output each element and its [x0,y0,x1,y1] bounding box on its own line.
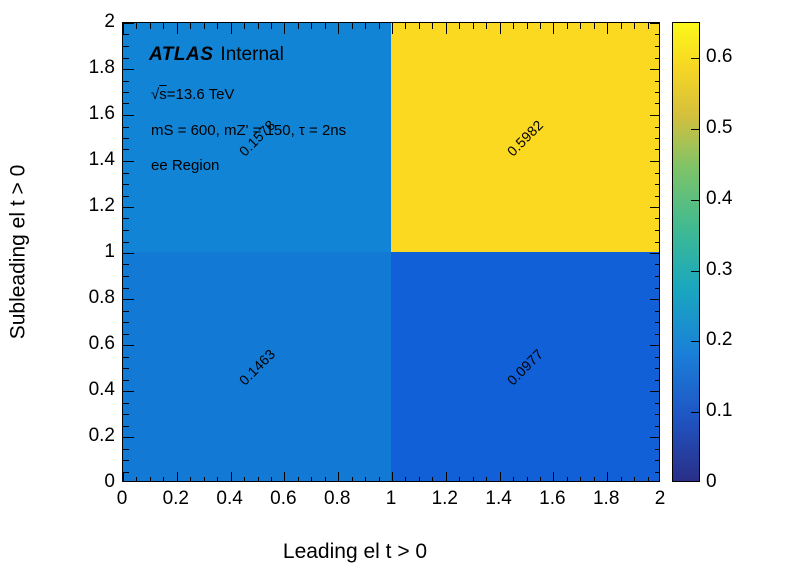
x-axis-label: 1.4 [485,488,511,510]
x-axis-tick [271,477,272,482]
y-axis-tick [123,81,129,82]
x-axis-tick [392,472,393,482]
y-axis-tick [123,334,129,335]
y-axis-tick [655,449,660,450]
model-text: mS = 600, mZ' = 150, τ = 2ns [151,122,346,139]
atlas-label: ATLASInternal [149,45,284,64]
y-axis-tick [123,242,129,243]
x-axis-label: 1.8 [593,488,619,510]
x-axis-label: 1.2 [432,488,458,510]
y-axis-tick [655,46,660,47]
color-bar-tick [691,412,699,413]
y-axis-tick [123,426,129,427]
x-axis-tick [177,472,178,482]
y-axis-tick [123,299,134,300]
y-axis-tick [655,58,660,59]
model-label: mS = 600, mZ' = 150, τ = 2ns [151,123,346,138]
x-axis-tick [136,477,137,482]
color-bar-label: 0.2 [706,329,732,351]
y-axis-tick [123,46,129,47]
x-axis-tick [580,477,581,482]
y-axis-tick [655,138,660,139]
y-axis-label: 1.4 [89,149,115,171]
y-axis-tick [650,437,660,438]
x-axis-tick [648,23,649,29]
x-axis-tick [338,23,339,34]
region-text: ee Region [151,157,219,174]
sqrt-symbol: √s [151,86,167,103]
x-axis-tick [244,23,245,29]
x-axis-tick [432,23,433,29]
x-axis-tick [379,23,380,29]
x-axis-tick [486,477,487,482]
energy-label: √s=13.6 TeV [151,87,234,102]
y-axis-tick [655,414,660,415]
x-axis-tick [284,23,285,34]
plot-frame: 0.1578 0.5982 0.1463 0.0977 ATLASInterna… [122,22,660,482]
y-axis-tick [655,322,660,323]
x-axis-tick [486,23,487,29]
x-axis-tick [231,472,232,482]
color-bar-tick [691,58,699,59]
y-axis-label: 1.2 [89,195,115,217]
x-axis-tick [459,477,460,482]
atlas-status-text: Internal [213,44,283,65]
x-axis-label: 0.8 [324,488,350,510]
x-axis-tick [459,23,460,29]
x-axis-tick [540,477,541,482]
x-axis-tick [258,477,259,482]
x-axis-tick [500,472,501,482]
y-axis-tick [123,380,129,381]
heatmap-cell-label: 0.1463 [236,345,278,387]
y-axis-tick [655,149,660,150]
x-axis-tick [540,23,541,29]
y-axis-tick [655,368,660,369]
color-bar-tick [691,129,699,130]
y-axis-tick [655,34,660,35]
x-axis-tick [621,23,622,29]
x-axis-tick [123,23,124,34]
y-axis-tick [655,311,660,312]
y-axis-label: 0.4 [89,379,115,401]
y-axis-tick [123,403,129,404]
y-axis-tick [655,276,660,277]
x-axis-title-text: Leading el t > 0 [283,540,427,563]
x-axis-tick [607,23,608,34]
y-axis-label: 1.6 [89,103,115,125]
x-axis-tick [298,23,299,29]
y-axis-tick [123,472,129,473]
x-axis-tick [365,477,366,482]
x-axis-tick [634,23,635,29]
color-bar-tick [691,200,699,201]
x-axis-tick [163,477,164,482]
x-axis-tick [594,23,595,29]
x-axis-tick [204,477,205,482]
x-axis-tick [217,23,218,29]
x-axis-tick [527,477,528,482]
x-axis-tick [648,477,649,482]
color-bar-tick [691,341,699,342]
color-bar-label: 0.1 [706,400,732,422]
x-axis-tick [338,472,339,482]
x-axis-tick [177,23,178,34]
x-axis-tick [621,477,622,482]
color-bar-label: 0.4 [706,188,732,210]
y-axis-tick [123,345,134,346]
y-axis-tick [123,34,129,35]
x-axis-tick [325,23,326,29]
energy-text: =13.6 TeV [167,86,235,103]
x-axis-tick [123,472,124,482]
y-axis-tick [123,184,129,185]
x-axis-tick [311,23,312,29]
heatmap-cell-label: 0.5982 [504,116,546,158]
x-axis-label: 0.2 [163,488,189,510]
x-axis-tick [446,472,447,482]
y-axis-title: Subleading el t > 0 [4,22,32,482]
y-axis-tick [123,196,129,197]
y-axis-tick [655,173,660,174]
x-axis-label: 2 [655,488,666,510]
heatmap-cell-bottom-left: 0.1463 [123,252,391,481]
x-axis-tick [527,23,528,29]
y-axis-label: 0 [104,471,115,493]
y-axis-tick [123,138,129,139]
y-axis-tick [655,127,660,128]
y-axis-tick [123,173,129,174]
x-axis-tick [405,23,406,29]
x-axis-tick [190,477,191,482]
x-axis-tick [311,477,312,482]
x-axis-tick [244,477,245,482]
y-axis-tick [123,449,129,450]
x-axis-tick [231,23,232,34]
color-bar-label: 0.3 [706,259,732,281]
x-axis-tick [419,23,420,29]
y-axis-tick [655,403,660,404]
x-axis-tick [500,23,501,34]
x-axis-tick [379,477,380,482]
y-axis-label: 0.2 [89,425,115,447]
y-axis-tick [655,380,660,381]
y-axis-tick [123,357,129,358]
y-axis-tick [655,103,660,104]
y-axis-tick [123,115,134,116]
y-axis-tick [650,115,660,116]
y-axis-tick [650,161,660,162]
y-axis-label: 1.8 [89,57,115,79]
y-axis-tick [123,92,129,93]
y-axis-label: 1 [104,241,115,263]
y-axis-tick [655,230,660,231]
y-axis-tick [123,69,134,70]
x-axis-tick [553,23,554,34]
x-axis-tick [217,477,218,482]
y-axis-tick [123,460,129,461]
y-axis-title-text: Subleading el t > 0 [6,165,30,340]
heatmap-cell-top-right: 0.5982 [391,23,659,252]
y-axis-tick [655,426,660,427]
y-axis-tick [123,414,129,415]
x-axis-label: 0 [117,488,128,510]
y-axis-tick [123,311,129,312]
y-axis-tick [655,357,660,358]
x-axis-tick [271,23,272,29]
y-axis-tick [123,288,129,289]
y-axis-label: 2 [104,11,115,33]
x-axis-tick [298,477,299,482]
x-axis-tick [352,477,353,482]
y-axis-tick [123,149,129,150]
x-axis-tick [150,477,151,482]
y-axis-tick [655,196,660,197]
y-axis-tick [655,288,660,289]
x-axis-tick [567,477,568,482]
y-axis-label: 0.8 [89,287,115,309]
x-axis-tick [580,23,581,29]
x-axis-tick [365,23,366,29]
y-axis-tick [655,92,660,93]
y-axis-tick [123,264,129,265]
color-bar-label: 0 [706,471,717,493]
atlas-experiment-text: ATLAS [149,44,213,65]
color-bar-label: 0.6 [706,46,732,68]
y-axis-tick [655,218,660,219]
x-axis-tick [553,472,554,482]
y-axis-tick [123,437,134,438]
x-axis-tick [634,477,635,482]
x-axis-tick [258,23,259,29]
y-axis-tick [123,127,129,128]
x-axis-tick [150,23,151,29]
color-bar-label: 0.5 [706,117,732,139]
y-axis-tick [650,253,660,254]
x-axis-tick [473,23,474,29]
x-axis-tick [594,477,595,482]
y-axis-tick [123,230,129,231]
y-axis-tick [650,299,660,300]
x-axis-tick [419,477,420,482]
y-axis-tick [650,23,660,24]
x-axis-tick [446,23,447,34]
x-axis-title: Leading el t > 0 [0,540,796,564]
y-axis-tick [123,207,134,208]
y-axis-label: 0.6 [89,333,115,355]
x-axis-tick [513,477,514,482]
x-axis-tick [284,472,285,482]
y-axis-tick [123,58,129,59]
y-axis-tick [123,391,134,392]
color-bar[interactable] [672,22,700,482]
x-axis-tick [352,23,353,29]
y-axis-tick [650,345,660,346]
root-canvas: Subleading el t > 0 0.1578 0.5982 0.1463… [0,0,796,572]
y-axis-tick [655,264,660,265]
y-axis-tick [123,253,134,254]
x-axis-tick [473,477,474,482]
x-axis-tick [392,23,393,34]
x-axis-tick [405,477,406,482]
color-bar-tick [691,271,699,272]
x-axis-label: 0.6 [270,488,296,510]
x-axis-tick [432,477,433,482]
y-axis-tick [655,242,660,243]
y-axis-tick [655,184,660,185]
y-axis-tick [123,218,129,219]
y-axis-tick [123,276,129,277]
heatmap-cell-bottom-right: 0.0977 [391,252,659,481]
x-axis-tick [163,23,164,29]
region-label: ee Region [151,158,219,173]
y-axis-tick [650,69,660,70]
y-axis-tick [123,368,129,369]
x-axis-tick [136,23,137,29]
y-axis-tick [655,81,660,82]
y-axis-tick [123,161,134,162]
x-axis-tick [567,23,568,29]
x-axis-tick [607,472,608,482]
x-axis-tick [513,23,514,29]
x-axis-tick [190,23,191,29]
x-axis-label: 0.4 [216,488,242,510]
y-axis-tick [123,23,134,24]
x-axis-tick [325,477,326,482]
x-axis-label: 1.6 [539,488,565,510]
y-axis-tick [123,103,129,104]
y-axis-tick [650,207,660,208]
y-axis-tick [655,334,660,335]
x-axis-label: 1 [386,488,397,510]
heatmap-cell-label: 0.0977 [504,345,546,387]
y-axis-tick [650,391,660,392]
x-axis-tick [204,23,205,29]
y-axis-tick [655,460,660,461]
y-axis-tick [655,472,660,473]
y-axis-tick [123,322,129,323]
